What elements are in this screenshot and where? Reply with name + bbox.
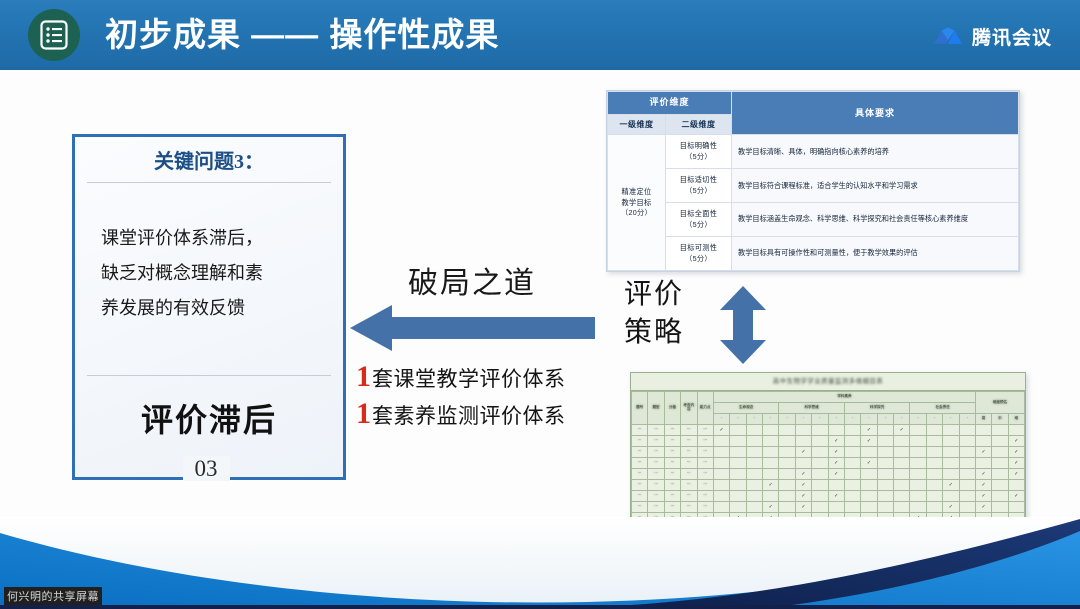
- spec-cell: ···: [632, 491, 648, 502]
- spec-cell: [943, 425, 959, 436]
- spec-cell: [828, 502, 844, 513]
- spec-cell: [844, 469, 860, 480]
- sub-dim-score: （5分）: [669, 186, 728, 196]
- rubric-requirement-header: 具体要求: [732, 92, 1019, 135]
- spec-cell: ···: [632, 469, 648, 480]
- spec-leaf-header: ·: [713, 414, 729, 425]
- spec-cell: ···: [697, 458, 713, 469]
- spec-cell: [992, 502, 1008, 513]
- spec-cell: [746, 458, 762, 469]
- spec-cell: [926, 502, 942, 513]
- spec-cell: [877, 469, 893, 480]
- spec-cell: [779, 491, 795, 502]
- spec-cell: ···: [648, 458, 664, 469]
- spec-cell: [812, 447, 828, 458]
- spec-cell: ···: [681, 425, 697, 436]
- spec-cell: ✓: [975, 469, 991, 480]
- spec-cell: [795, 436, 811, 447]
- spec-cell: [812, 425, 828, 436]
- spec-cell: [763, 458, 779, 469]
- rubric-requirement-cell: 教学目标具有可操作性和可测量性，便于教学效果的评估: [732, 237, 1019, 271]
- table-row: ···············✓✓✓✓: [632, 447, 1025, 458]
- table-row: ···············✓✓✓: [632, 436, 1025, 447]
- spec-cell: ✓: [1008, 436, 1024, 447]
- spec-cell: [861, 480, 877, 491]
- spec-cell: [746, 436, 762, 447]
- spec-cell: [763, 425, 779, 436]
- spec-cell: [779, 436, 795, 447]
- spec-right-group-header: 难度预估: [975, 392, 1024, 414]
- slide-header: 初步成果 —— 操作性成果 腾讯会议: [0, 0, 1080, 70]
- outcome-bullet-list: 1 套课堂教学评价体系 1 套素养监测评价体系: [356, 362, 606, 436]
- table-row: ···············✓✓✓✓: [632, 502, 1025, 513]
- spec-cell: ···: [664, 436, 680, 447]
- divider-top: [87, 182, 331, 183]
- spec-cell: [926, 447, 942, 458]
- spec-col-header: 考查内容: [681, 392, 697, 425]
- spec-cell: ···: [681, 502, 697, 513]
- key-question-body: 课堂评价体系滞后， 缺乏对概念理解和素 养发展的有效反馈: [101, 221, 325, 326]
- spec-cell: [877, 458, 893, 469]
- spec-cell: [844, 491, 860, 502]
- spec-cell: ✓: [975, 447, 991, 458]
- slide-canvas: 初步成果 —— 操作性成果 腾讯会议 关键问题3： 课堂评价体系滞后， 缺乏对概…: [0, 0, 1080, 609]
- spec-cell: [861, 469, 877, 480]
- spec-cell: ···: [648, 469, 664, 480]
- spec-cell: [779, 469, 795, 480]
- spec-cell: [795, 458, 811, 469]
- spec-cell: ···: [648, 502, 664, 513]
- spec-leaf-header: ·: [926, 414, 942, 425]
- rubric-secondary-dimension: 目标可测性 （5分）: [666, 237, 732, 271]
- table-header-row: 评价维度 具体要求: [608, 92, 1019, 115]
- spec-cell: [812, 469, 828, 480]
- spec-subgroup-header: 科学思维: [779, 403, 845, 414]
- spec-cell: ···: [664, 491, 680, 502]
- spec-cell: ···: [681, 458, 697, 469]
- spec-cell: [877, 491, 893, 502]
- spec-cell: [894, 436, 910, 447]
- spec-cell: [959, 469, 975, 480]
- spec-cell: ···: [697, 480, 713, 491]
- tencent-meeting-logo-icon: [933, 26, 963, 46]
- spec-leaf-header: ·: [795, 414, 811, 425]
- spec-cell: [730, 469, 746, 480]
- table-row: 目标适切性 （5分） 教学目标符合课程标准，适合学生的认知水平和学习需求: [608, 169, 1019, 203]
- list-item: 1 套课堂教学评价体系: [356, 362, 606, 393]
- spec-cell: ···: [697, 436, 713, 447]
- spec-cell: [844, 480, 860, 491]
- spec-cell: [877, 502, 893, 513]
- rubric-table: 评价维度 具体要求 一级维度 二级维度 精准定位 教学目标 （20分） 目标明确…: [606, 90, 1020, 272]
- page-title: 初步成果 —— 操作性成果: [105, 11, 499, 59]
- spec-subgroup-header: 科学探究: [844, 403, 910, 414]
- spec-cell: [713, 469, 729, 480]
- spec-cell: [730, 458, 746, 469]
- breakthrough-heading: 破局之道: [408, 258, 536, 302]
- spec-cell: [812, 480, 828, 491]
- spec-cell: ✓: [828, 447, 844, 458]
- strategy-line-1: 评价: [608, 276, 700, 314]
- spec-leaf-header: ·: [910, 414, 926, 425]
- spec-cell: [861, 502, 877, 513]
- spec-cell: [746, 502, 762, 513]
- spec-cell: [730, 447, 746, 458]
- table-row: ···············✓✓✓✓: [632, 469, 1025, 480]
- spec-difficulty-header: 中: [992, 414, 1008, 425]
- spec-cell: [713, 480, 729, 491]
- bullet-text: 套素养监测评价体系: [372, 400, 566, 430]
- spec-cell: ···: [648, 425, 664, 436]
- spec-cell: [795, 425, 811, 436]
- spec-cell: ✓: [861, 425, 877, 436]
- spec-cell: [763, 469, 779, 480]
- spec-cell: [992, 491, 1008, 502]
- spec-cell: ···: [681, 469, 697, 480]
- spec-cell: ···: [664, 458, 680, 469]
- spec-cell: [746, 447, 762, 458]
- spec-cell: ✓: [828, 436, 844, 447]
- spec-cell: [730, 425, 746, 436]
- key-question-line-2: 缺乏对概念理解和素: [101, 256, 325, 291]
- spec-cell: [975, 436, 991, 447]
- spec-cell: [779, 458, 795, 469]
- spec-cell: ···: [697, 469, 713, 480]
- spec-cell: ···: [632, 447, 648, 458]
- spec-difficulty-header: 易: [975, 414, 991, 425]
- spec-cell: ✓: [795, 502, 811, 513]
- spec-cell: [992, 458, 1008, 469]
- spec-cell: ···: [664, 425, 680, 436]
- primary-dim-line-1: 精准定位: [611, 187, 662, 197]
- spec-col-header: 题号: [632, 392, 648, 425]
- spec-cell: [746, 469, 762, 480]
- spec-cell: [894, 469, 910, 480]
- spec-leaf-header: ·: [746, 414, 762, 425]
- spec-cell: ✓: [828, 491, 844, 502]
- spec-cell: [975, 425, 991, 436]
- spec-cell: [713, 458, 729, 469]
- spec-cell: ···: [664, 480, 680, 491]
- spec-cell: [992, 425, 1008, 436]
- key-question-card: 关键问题3： 课堂评价体系滞后， 缺乏对概念理解和素 养发展的有效反馈 评价滞后: [72, 134, 346, 480]
- spec-cell: ···: [681, 491, 697, 502]
- key-question-title: 关键问题3：: [75, 145, 343, 174]
- spec-cell: ✓: [894, 425, 910, 436]
- spec-cell: ✓: [795, 480, 811, 491]
- spec-cell: [894, 458, 910, 469]
- spec-cell: [877, 480, 893, 491]
- key-question-highlight: 评价滞后: [75, 395, 343, 441]
- spec-cell: [844, 425, 860, 436]
- spec-cell: [926, 425, 942, 436]
- list-document-icon: [28, 9, 80, 61]
- spec-subgroup-header: 社会责任: [910, 403, 976, 414]
- rubric-secondary-dimension: 目标明确性 （5分）: [666, 135, 732, 169]
- spec-cell: [763, 447, 779, 458]
- spec-cell: ✓: [828, 469, 844, 480]
- spec-cell: ✓: [713, 425, 729, 436]
- table-row: ···············✓✓✓✓: [632, 480, 1025, 491]
- spec-cell: [763, 491, 779, 502]
- spec-cell: [861, 491, 877, 502]
- spec-cell: [844, 458, 860, 469]
- spec-cell: ✓: [1008, 491, 1024, 502]
- spec-cell: [910, 502, 926, 513]
- spec-cell: ···: [632, 436, 648, 447]
- spec-cell: [1008, 480, 1024, 491]
- spec-cell: [959, 458, 975, 469]
- spec-cell: ···: [697, 502, 713, 513]
- spec-cell: ✓: [975, 491, 991, 502]
- key-question-line-1: 课堂评价体系滞后，: [101, 221, 325, 256]
- spec-cell: ✓: [1008, 469, 1024, 480]
- spec-cell: [779, 502, 795, 513]
- spec-cell: ···: [681, 436, 697, 447]
- spec-cell: ✓: [861, 458, 877, 469]
- spec-cell: [763, 436, 779, 447]
- spec-cell: [779, 447, 795, 458]
- spec-cell: [926, 469, 942, 480]
- spec-cell: [910, 436, 926, 447]
- spec-leaf-header: ·: [861, 414, 877, 425]
- spec-cell: [713, 447, 729, 458]
- spec-cell: [730, 502, 746, 513]
- screen-share-watermark: 何兴明的共享屏幕: [4, 587, 102, 605]
- spec-cell: [1008, 502, 1024, 513]
- spec-leaf-header: ·: [877, 414, 893, 425]
- spec-cell: [959, 502, 975, 513]
- tencent-meeting-brand: 腾讯会议: [933, 22, 1052, 50]
- double-vertical-arrow-icon: [712, 286, 774, 364]
- bullet-text: 套课堂教学评价体系: [372, 363, 566, 393]
- strategy-line-2: 策略: [608, 314, 700, 352]
- spec-cell: [943, 447, 959, 458]
- rubric-requirement-cell: 教学目标涵盖生命观念、科学思维、科学探究和社会责任等核心素养维度: [732, 203, 1019, 237]
- spec-cell: [877, 447, 893, 458]
- brand-label: 腾讯会议: [972, 23, 1052, 50]
- spec-leaf-header: ·: [812, 414, 828, 425]
- rubric-requirement-cell: 教学目标符合课程标准，适合学生的认知水平和学习需求: [732, 169, 1019, 203]
- spec-cell: ···: [664, 447, 680, 458]
- spec-cell: [877, 425, 893, 436]
- spec-cell: ···: [648, 447, 664, 458]
- spec-cell: ✓: [795, 469, 811, 480]
- spec-col-header: 分值: [664, 392, 680, 425]
- spec-cell: [844, 502, 860, 513]
- spec-cell: ···: [632, 458, 648, 469]
- spec-cell: ✓: [943, 502, 959, 513]
- spec-cell: [713, 502, 729, 513]
- spec-cell: [713, 436, 729, 447]
- spec-cell: ···: [681, 480, 697, 491]
- primary-dim-line-3: （20分）: [611, 208, 662, 218]
- spec-cell: [812, 491, 828, 502]
- spec-cell: [828, 480, 844, 491]
- spec-difficulty-header: 难: [1008, 414, 1024, 425]
- spec-cell: [975, 458, 991, 469]
- spec-cell: ✓: [763, 480, 779, 491]
- spec-cell: [894, 491, 910, 502]
- spec-cell: ✓: [975, 480, 991, 491]
- list-item: 1 套素养监测评价体系: [356, 399, 606, 430]
- spec-cell: ✓: [795, 447, 811, 458]
- spec-cell: [943, 469, 959, 480]
- spec-cell: ···: [664, 469, 680, 480]
- spec-cell: [992, 447, 1008, 458]
- spec-subgroup-header: 生命观念: [713, 403, 779, 414]
- spec-cell: [812, 436, 828, 447]
- spec-cell: [1008, 425, 1024, 436]
- spec-cell: [894, 480, 910, 491]
- spec-cell: ✓: [975, 502, 991, 513]
- spec-cell: [730, 480, 746, 491]
- spec-leaf-header: ·: [730, 414, 746, 425]
- spec-cell: [746, 425, 762, 436]
- spec-cell: [730, 491, 746, 502]
- spec-leaf-header: ·: [828, 414, 844, 425]
- divider-bottom: [87, 375, 331, 376]
- spec-cell: ···: [632, 502, 648, 513]
- spec-cell: [844, 436, 860, 447]
- table-row: ···············✓✓✓: [632, 458, 1025, 469]
- bullet-number: 1: [356, 362, 371, 392]
- spec-cell: [959, 491, 975, 502]
- spec-cell: [910, 491, 926, 502]
- spec-cell: [959, 436, 975, 447]
- footer-decoration: 何兴明的共享屏幕: [0, 517, 1080, 609]
- spec-cell: ···: [697, 491, 713, 502]
- spec-cell: ✓: [861, 436, 877, 447]
- rubric-group-header: 评价维度: [608, 92, 732, 115]
- spec-cell: ···: [664, 502, 680, 513]
- spec-cell: [910, 480, 926, 491]
- spec-cell: ✓: [1008, 447, 1024, 458]
- spec-cell: [730, 436, 746, 447]
- spec-cell: ✓: [763, 502, 779, 513]
- spec-cell: ✓: [943, 480, 959, 491]
- spec-cell: [943, 491, 959, 502]
- spec-col-header: 能力点: [697, 392, 713, 425]
- rubric-primary-dimension: 精准定位 教学目标 （20分）: [608, 135, 666, 271]
- spec-leaf-header: ·: [763, 414, 779, 425]
- spec-cell: [779, 480, 795, 491]
- spec-group-header: 学科素养: [713, 392, 975, 403]
- spec-cell: [894, 447, 910, 458]
- key-question-line-3: 养发展的有效反馈: [101, 291, 325, 326]
- sub-dim-score: （5分）: [669, 152, 728, 162]
- key-question-number-text: 03: [183, 456, 230, 481]
- spec-cell: [926, 436, 942, 447]
- spec-cell: ✓: [1008, 458, 1024, 469]
- spec-cell: [877, 436, 893, 447]
- table-row: 精准定位 教学目标 （20分） 目标明确性 （5分） 教学目标清晰、具体，明确指…: [608, 135, 1019, 169]
- rubric-subheader-secondary: 二级维度: [666, 114, 732, 135]
- spec-cell: [943, 458, 959, 469]
- spec-cell: [943, 436, 959, 447]
- left-arrow-icon: [350, 305, 595, 351]
- spec-cell: ✓: [828, 458, 844, 469]
- spec-cell: ···: [681, 447, 697, 458]
- spec-leaf-header: ·: [779, 414, 795, 425]
- spec-cell: [844, 447, 860, 458]
- spec-cell: ···: [697, 447, 713, 458]
- table-header-row: 题号题型分值考查内容能力点学科素养难度预估: [632, 392, 1025, 403]
- spec-cell: [926, 458, 942, 469]
- key-question-number: 03: [72, 456, 340, 482]
- spec-cell: [959, 425, 975, 436]
- spec-cell: [812, 502, 828, 513]
- bullet-number: 1: [356, 399, 371, 429]
- table-row: ···············✓✓✓✓: [632, 491, 1025, 502]
- table-row: ···············✓✓✓: [632, 425, 1025, 436]
- spec-cell: [959, 480, 975, 491]
- spec-leaf-header: ·: [943, 414, 959, 425]
- sub-dim-name: 目标明确性: [669, 141, 728, 151]
- spec-cell: [992, 480, 1008, 491]
- sub-dim-name: 目标全面性: [669, 209, 728, 219]
- spec-cell: [779, 425, 795, 436]
- spec-cell: [992, 436, 1008, 447]
- spec-cell: ···: [632, 425, 648, 436]
- spec-cell: ···: [648, 491, 664, 502]
- spec-cell: [910, 425, 926, 436]
- spec-cell: [828, 425, 844, 436]
- spec-cell: ✓: [795, 491, 811, 502]
- sub-dim-score: （5分）: [669, 220, 728, 230]
- spec-cell: [910, 469, 926, 480]
- spec-cell: [992, 469, 1008, 480]
- spec-leaf-header: ·: [844, 414, 860, 425]
- spec-cell: [894, 502, 910, 513]
- rubric-requirement-cell: 教学目标清晰、具体，明确指向核心素养的培养: [732, 135, 1019, 169]
- spec-cell: [746, 480, 762, 491]
- rubric-secondary-dimension: 目标适切性 （5分）: [666, 169, 732, 203]
- rubric-secondary-dimension: 目标全面性 （5分）: [666, 203, 732, 237]
- sub-dim-name: 目标适切性: [669, 175, 728, 185]
- spec-cell: ···: [632, 480, 648, 491]
- sub-dim-name: 目标可测性: [669, 243, 728, 253]
- spec-cell: [713, 491, 729, 502]
- spec-cell: ···: [648, 436, 664, 447]
- spec-cell: ···: [697, 425, 713, 436]
- sub-dim-score: （5分）: [669, 254, 728, 264]
- spec-cell: [926, 491, 942, 502]
- spec-cell: [926, 480, 942, 491]
- spec-cell: ···: [648, 480, 664, 491]
- spec-cell: [746, 491, 762, 502]
- spec-leaf-header: ·: [959, 414, 975, 425]
- spec-cell: [910, 458, 926, 469]
- spec-cell: [861, 447, 877, 458]
- spec-table-title: 高中生物学学业质量监测多维细目表: [631, 373, 1025, 391]
- spec-leaf-header: ·: [894, 414, 910, 425]
- table-row: 目标全面性 （5分） 教学目标涵盖生命观念、科学思维、科学探究和社会责任等核心素…: [608, 203, 1019, 237]
- primary-dim-line-2: 教学目标: [611, 198, 662, 208]
- spec-cell: [910, 447, 926, 458]
- strategy-label: 评价 策略: [608, 276, 700, 352]
- spec-cell: [812, 458, 828, 469]
- spec-col-header: 题型: [648, 392, 664, 425]
- rubric-subheader-primary: 一级维度: [608, 114, 666, 135]
- table-row: 目标可测性 （5分） 教学目标具有可操作性和可测量性，便于教学效果的评估: [608, 237, 1019, 271]
- spec-cell: [959, 447, 975, 458]
